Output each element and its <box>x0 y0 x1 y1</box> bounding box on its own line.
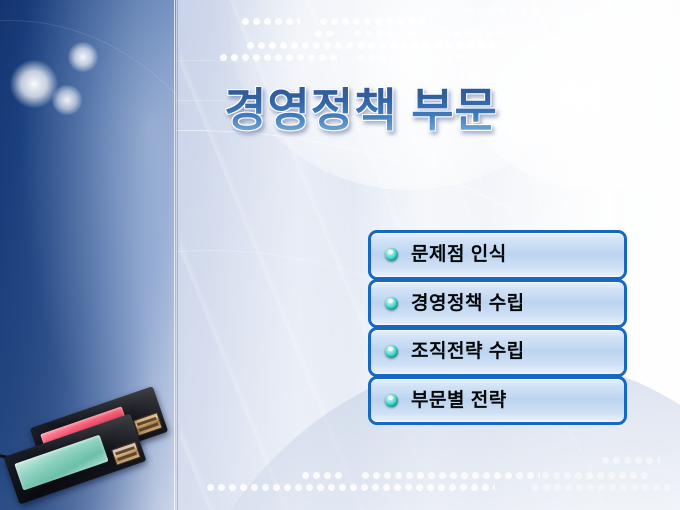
agenda-item-label: 조직전략 수립 <box>411 342 525 361</box>
presentation-slide: 경영정책 부문 문제점 인식 경영정책 수립 조직전략 수립 부문별 전략 <box>0 0 680 510</box>
agenda-item-3[interactable]: 조직전략 수립 <box>368 327 627 377</box>
teal-sphere-bullet-icon <box>385 297 398 310</box>
slide-title: 경영정책 부문 <box>196 76 526 138</box>
usb-flash-drives-photo <box>0 400 194 510</box>
agenda-item-2[interactable]: 경영정책 수립 <box>368 279 627 329</box>
teal-sphere-bullet-icon <box>385 394 398 407</box>
bokeh-light-small-lower <box>52 85 82 115</box>
agenda-item-label: 경영정책 수립 <box>411 294 525 313</box>
agenda-item-4[interactable]: 부문별 전략 <box>368 376 627 426</box>
bokeh-light-small-upper <box>68 42 98 72</box>
agenda-list: 문제점 인식 경영정책 수립 조직전략 수립 부문별 전략 <box>368 230 627 425</box>
teal-sphere-bullet-icon <box>385 248 398 261</box>
bokeh-light-large <box>10 60 58 108</box>
teal-sphere-bullet-icon <box>385 345 398 358</box>
agenda-item-label: 문제점 인식 <box>411 245 507 264</box>
agenda-item-label: 부문별 전략 <box>411 391 507 410</box>
agenda-item-1[interactable]: 문제점 인식 <box>368 230 627 280</box>
